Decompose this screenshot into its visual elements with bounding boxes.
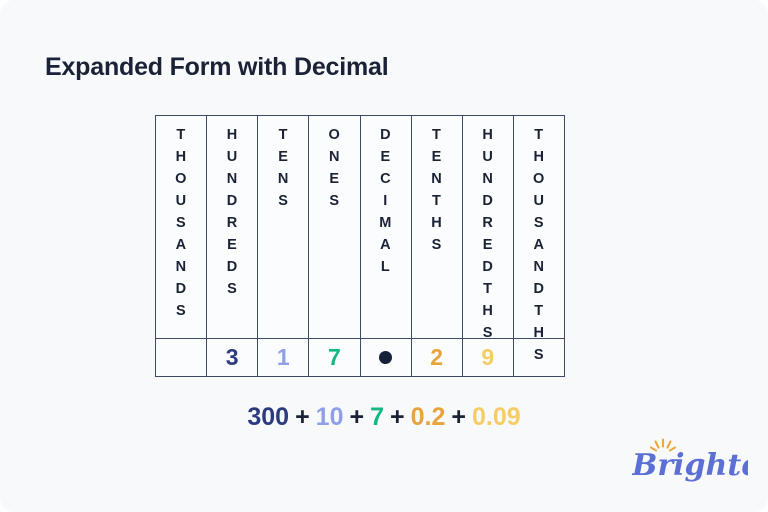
header-letter: U (482, 146, 493, 168)
header-letter: N (176, 256, 187, 278)
header-letter: T (432, 190, 441, 212)
table-header-row: THOUSANDSHUNDREDSTENSONESDECIMALTENTHSHU… (156, 116, 564, 339)
header-letter: N (278, 168, 289, 190)
worksheet-card: Expanded Form with Decimal THOUSANDSHUND… (0, 0, 768, 512)
header-letter: E (483, 234, 493, 256)
header-letter: E (227, 234, 237, 256)
header-letter: T (279, 124, 288, 146)
header-letter: E (432, 146, 442, 168)
header-letter: U (227, 146, 238, 168)
page-title: Expanded Form with Decimal (45, 53, 388, 82)
equation-operator: + (295, 403, 310, 431)
column-header-label: DECIMAL (379, 116, 392, 278)
header-letter: H (227, 124, 238, 146)
digit-cell-decimal (361, 339, 412, 376)
table-digit-row: 31729 (156, 339, 564, 376)
place-value-table: THOUSANDSHUNDREDSTENSONESDECIMALTENTHSHU… (155, 115, 565, 377)
column-header-label: THOUSANDTHS (533, 116, 545, 366)
header-letter: A (533, 234, 544, 256)
digit-cell-thousands (156, 339, 207, 376)
header-letter: D (482, 256, 493, 278)
header-letter: D (227, 256, 238, 278)
header-letter: S (176, 212, 186, 234)
equation-operator: + (390, 403, 405, 431)
column-header-decimal: DECIMAL (361, 116, 412, 338)
decimal-point-icon (379, 351, 392, 364)
digit-cell-tens: 1 (258, 339, 309, 376)
header-letter: D (227, 190, 238, 212)
equation-operator: + (349, 403, 364, 431)
column-header-label: TENS (278, 116, 289, 212)
column-header-hundreds: HUNDREDS (207, 116, 258, 338)
header-letter: A (176, 234, 187, 256)
equation-term: 7 (370, 403, 384, 431)
header-letter: T (534, 300, 543, 322)
header-letter: D (176, 278, 187, 300)
equation-term: 0.2 (411, 403, 446, 431)
header-letter: H (482, 300, 493, 322)
header-letter: T (432, 124, 441, 146)
header-letter: O (175, 168, 187, 190)
header-letter: S (432, 234, 442, 256)
header-letter: D (482, 190, 493, 212)
digit-cell-hundredths: 9 (463, 339, 514, 376)
header-letter: N (533, 256, 544, 278)
header-letter: N (227, 168, 238, 190)
header-letter: E (329, 168, 339, 190)
header-letter: U (176, 190, 187, 212)
equation-operator: + (451, 403, 466, 431)
header-letter: I (383, 190, 388, 212)
header-letter: N (329, 146, 340, 168)
digit-cell-hundreds: 3 (207, 339, 258, 376)
column-header-ones: ONES (309, 116, 360, 338)
header-letter: S (329, 190, 339, 212)
header-letter: D (380, 124, 391, 146)
digit-cell-thousandths (514, 339, 564, 376)
expanded-form-equation: 300+10+7+0.2+0.09 (0, 403, 768, 432)
equation-term: 10 (316, 403, 344, 431)
header-letter: H (482, 124, 493, 146)
header-letter: E (278, 146, 288, 168)
column-header-tens: TENS (258, 116, 309, 338)
header-letter: S (278, 190, 288, 212)
brighterly-logo: Brighterly (632, 437, 748, 483)
header-letter: D (533, 278, 544, 300)
header-letter: A (380, 234, 391, 256)
header-letter: H (176, 146, 187, 168)
header-letter: S (534, 212, 544, 234)
header-letter: M (379, 212, 392, 234)
equation-term: 0.09 (472, 403, 521, 431)
header-letter: U (533, 190, 544, 212)
header-letter: N (431, 168, 442, 190)
header-letter: L (381, 256, 390, 278)
svg-text:Brighterly: Brighterly (632, 448, 748, 483)
header-letter: H (533, 146, 544, 168)
header-letter: N (482, 168, 493, 190)
digit-cell-ones: 7 (309, 339, 360, 376)
header-letter: T (534, 124, 543, 146)
header-letter: T (176, 124, 185, 146)
equation-term: 300 (247, 403, 289, 431)
header-letter: R (482, 212, 493, 234)
column-header-label: ONES (329, 116, 341, 212)
header-letter: C (380, 168, 391, 190)
header-letter: S (227, 278, 237, 300)
column-header-thousandths: THOUSANDTHS (514, 116, 564, 338)
header-letter: H (431, 212, 442, 234)
column-header-thousands: THOUSANDS (156, 116, 207, 338)
column-header-label: TENTHS (431, 116, 442, 256)
header-letter: R (227, 212, 238, 234)
digit-cell-tenths: 2 (412, 339, 463, 376)
column-header-label: HUNDREDS (227, 116, 238, 300)
header-letter: T (483, 278, 492, 300)
column-header-tenths: TENTHS (412, 116, 463, 338)
header-letter: O (329, 124, 341, 146)
column-header-hundredths: HUNDREDTHS (463, 116, 514, 338)
header-letter: S (176, 300, 186, 322)
header-letter: E (380, 146, 390, 168)
header-letter: O (533, 168, 545, 190)
column-header-label: THOUSANDS (175, 116, 187, 322)
column-header-label: HUNDREDTHS (482, 116, 493, 344)
